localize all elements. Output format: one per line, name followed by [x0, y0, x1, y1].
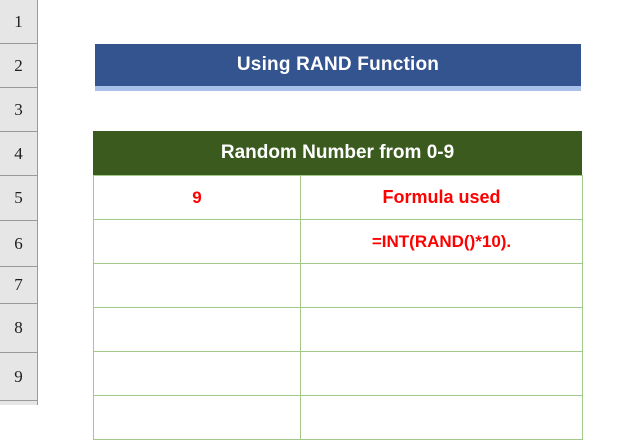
cell-value[interactable]: [94, 264, 301, 308]
table-row: 9 Formula used: [94, 176, 583, 220]
row-header-7[interactable]: 7: [0, 267, 37, 304]
row-header-8[interactable]: 8: [0, 304, 37, 353]
table-row: [94, 396, 583, 440]
table-row: =INT(RAND()*10).: [94, 220, 583, 264]
table-row: [94, 352, 583, 396]
table-row: [94, 308, 583, 352]
data-table: 9 Formula used =INT(RAND()*10).: [93, 175, 583, 440]
row-number-gutter: 1 2 3 4 5 6 7 8 9: [0, 0, 38, 405]
row-header-label: 8: [14, 318, 23, 338]
random-number-value: 9: [192, 188, 201, 207]
row-header-label: 5: [14, 188, 23, 208]
spreadsheet-canvas: 1 2 3 4 5 6 7 8 9 Using RAND Function Ra…: [0, 0, 636, 405]
row-header-5[interactable]: 5: [0, 176, 37, 221]
cell-formula[interactable]: Formula used: [301, 176, 583, 220]
formula-expression: =INT(RAND()*10).: [372, 232, 511, 251]
row-header-label: 6: [14, 234, 23, 254]
cell-value[interactable]: [94, 308, 301, 352]
cell-formula[interactable]: [301, 308, 583, 352]
row-header-9[interactable]: 9: [0, 353, 37, 401]
cell-formula[interactable]: [301, 264, 583, 308]
table-row: [94, 264, 583, 308]
row-header-label: 9: [14, 367, 23, 387]
cell-value[interactable]: [94, 220, 301, 264]
table-body: 9 Formula used =INT(RAND()*10).: [94, 176, 583, 440]
cell-value[interactable]: 9: [94, 176, 301, 220]
table-header-text: Random Number from 0-9: [221, 142, 454, 164]
row-header-3[interactable]: 3: [0, 88, 37, 132]
row-header-4[interactable]: 4: [0, 132, 37, 176]
table-header-banner[interactable]: Random Number from 0-9: [93, 131, 582, 175]
row-header-label: 2: [14, 56, 23, 76]
cell-formula[interactable]: [301, 396, 583, 440]
cell-formula[interactable]: [301, 352, 583, 396]
formula-used-label: Formula used: [382, 187, 500, 207]
row-header-label: 3: [14, 100, 23, 120]
title-banner-underline: [95, 86, 581, 91]
row-header-label: 1: [14, 12, 23, 32]
row-header-1[interactable]: 1: [0, 0, 37, 44]
row-header-2[interactable]: 2: [0, 44, 37, 88]
title-banner-text: Using RAND Function: [237, 54, 439, 76]
title-banner[interactable]: Using RAND Function: [95, 44, 581, 86]
row-header-label: 4: [14, 144, 23, 164]
cell-value[interactable]: [94, 396, 301, 440]
cell-formula[interactable]: =INT(RAND()*10).: [301, 220, 583, 264]
cell-value[interactable]: [94, 352, 301, 396]
row-header-label: 7: [14, 275, 23, 295]
row-header-6[interactable]: 6: [0, 221, 37, 267]
